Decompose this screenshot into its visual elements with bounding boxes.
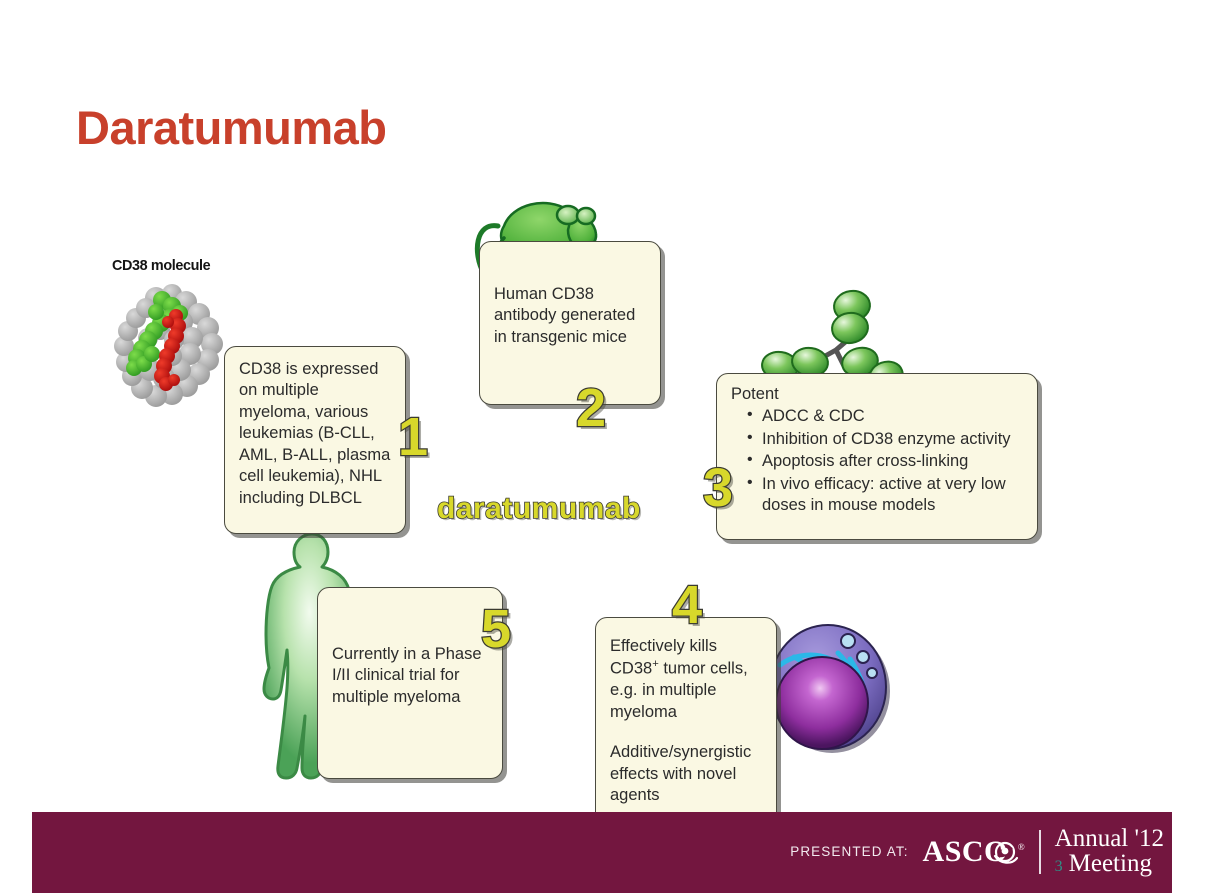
presented-at-label: PRESENTED AT: <box>790 844 908 859</box>
list-item: Apoptosis after cross-linking <box>747 451 1023 472</box>
registered-trademark-icon: ® <box>1018 842 1025 852</box>
cd38-molecule-label: CD38 molecule <box>112 257 210 274</box>
slide-number: 3 <box>1055 859 1063 875</box>
callout-2-text: Human CD38 antibody generated in transge… <box>494 284 646 348</box>
callout-5-text: Currently in a Phase I/II clinical trial… <box>332 644 488 708</box>
step-number-5: 5 <box>481 602 511 656</box>
list-item: In vivo efficacy: active at very low dos… <box>747 474 1023 517</box>
annual-meeting-wordmark: 3 Annual '12 Meeting <box>1055 827 1164 876</box>
asco-logo: ASCO® <box>923 837 1026 867</box>
step-number-1: 1 <box>398 410 428 464</box>
meeting-line-2: Meeting <box>1055 852 1164 877</box>
step-number-3: 3 <box>703 461 733 515</box>
callout-box-5: Currently in a Phase I/II clinical trial… <box>317 587 503 779</box>
callout-box-1: CD38 is expressed on multiple myeloma, v… <box>224 346 406 534</box>
list-item: Inhibition of CD38 enzyme activity <box>747 429 1023 450</box>
callout-1-text: CD38 is expressed on multiple myeloma, v… <box>239 359 391 509</box>
tumor-cell-image <box>764 613 898 759</box>
list-item: ADCC & CDC <box>747 406 1023 427</box>
step-number-4: 4 <box>672 578 702 632</box>
cd38-molecule-image <box>104 278 242 410</box>
callout-4-paragraph-1: Effectively kills CD38+ tumor cells, e.g… <box>610 636 762 723</box>
meeting-line-1: Annual '12 <box>1055 825 1164 852</box>
footer-divider <box>1039 830 1040 874</box>
callout-3-bullet-list: ADCC & CDC Inhibition of CD38 enzyme act… <box>731 406 1023 516</box>
callout-box-2: Human CD38 antibody generated in transge… <box>479 241 661 405</box>
footer-branding: PRESENTED AT: ASCO® 3 Annual '12 Meeting <box>790 827 1164 876</box>
page-title: Daratumumab <box>76 100 387 155</box>
callout-4-paragraph-2: Additive/synergistic effects with novel … <box>610 742 762 806</box>
callout-box-3: Potent ADCC & CDC Inhibition of CD38 enz… <box>716 373 1038 540</box>
slide-canvas: Daratumumab CD38 molecule <box>0 0 1208 893</box>
callout-3-heading: Potent <box>731 384 1023 405</box>
callout-box-4: Effectively kills CD38+ tumor cells, e.g… <box>595 617 777 826</box>
asco-swoosh-icon <box>992 840 1018 866</box>
step-number-2: 2 <box>576 381 606 435</box>
daratumumab-center-label: daratumumab <box>437 492 641 526</box>
